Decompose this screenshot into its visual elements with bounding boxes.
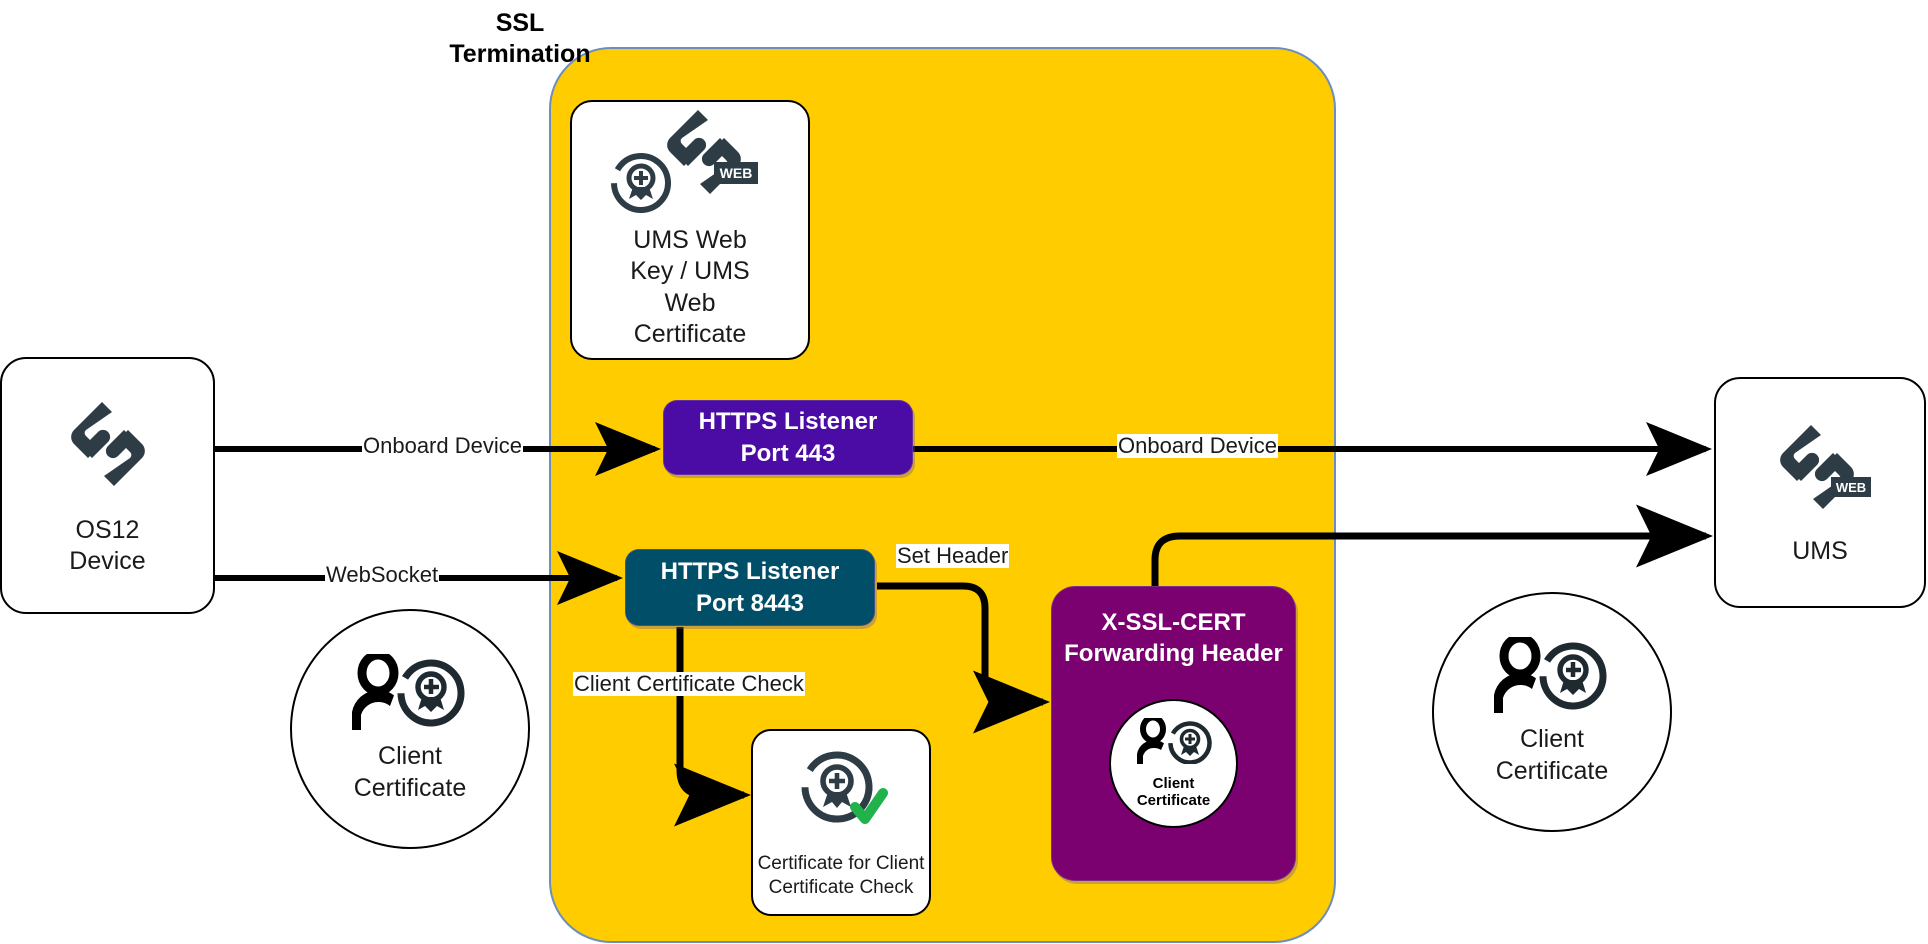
client-certificate-right-line1: Client bbox=[1496, 724, 1609, 756]
certificate-check-line2: Certificate Check bbox=[758, 876, 925, 900]
client-certificate-left-label: Client Certificate bbox=[354, 741, 467, 804]
edge-label-set-header: Set Header bbox=[896, 544, 1009, 568]
ums-web-certificate-line4: Certificate bbox=[630, 319, 749, 351]
xsslcert-line2: Forwarding Header bbox=[1064, 638, 1283, 669]
ums-web-certificate-label: UMS Web Key / UMS Web Certificate bbox=[630, 225, 749, 351]
person-certificate-icon bbox=[1131, 718, 1217, 772]
https-listener-443-line2: Port 443 bbox=[699, 438, 878, 469]
https-listener-8443-line1: HTTPS Listener bbox=[661, 556, 840, 587]
certificate-check-label: Certificate for Client Certificate Check bbox=[758, 852, 925, 900]
client-certificate-right-label: Client Certificate bbox=[1496, 724, 1609, 787]
ums-web-certificate-line1: UMS Web bbox=[630, 225, 749, 257]
certificate-badge-icon bbox=[610, 144, 679, 217]
https-listener-443-line1: HTTPS Listener bbox=[699, 406, 878, 437]
node-ums-web-certificate[interactable]: WEB UMS Web Key / UMS Web Certificate bbox=[570, 100, 810, 360]
edge-label-onboard-device-left: Onboard Device bbox=[362, 434, 523, 458]
edge-label-onboard-device-right: Onboard Device bbox=[1117, 434, 1278, 458]
diagram-canvas: SSL Termination Onboard Device Onboard D… bbox=[0, 0, 1928, 944]
ssl-title-line1: SSL bbox=[427, 8, 613, 39]
os12-device-label-line2: Device bbox=[69, 546, 145, 578]
node-os12-device[interactable]: OS12 Device bbox=[0, 357, 215, 614]
https-listener-8443-line2: Port 8443 bbox=[661, 588, 840, 619]
node-client-certificate-left[interactable]: Client Certificate bbox=[290, 609, 530, 849]
node-ums[interactable]: WEB UMS bbox=[1714, 377, 1926, 608]
os12-device-label: OS12 Device bbox=[69, 515, 145, 578]
client-certificate-left-line1: Client bbox=[354, 741, 467, 773]
node-https-listener-443[interactable]: HTTPS Listener Port 443 bbox=[663, 400, 913, 475]
node-xsslcert-forwarding-header[interactable]: X-SSL-CERT Forwarding Header bbox=[1051, 586, 1296, 881]
person-certificate-icon bbox=[1486, 637, 1618, 718]
client-certificate-left-line2: Certificate bbox=[354, 773, 467, 805]
ums-web-logo-icon: WEB bbox=[1765, 417, 1875, 522]
https-listener-443-label: HTTPS Listener Port 443 bbox=[699, 406, 878, 468]
client-certificate-right-line2: Certificate bbox=[1496, 756, 1609, 788]
svg-text:WEB: WEB bbox=[1836, 480, 1866, 495]
ums-web-logo-icon: WEB bbox=[610, 106, 770, 223]
svg-text:WEB: WEB bbox=[720, 165, 753, 181]
edge-label-websocket: WebSocket bbox=[325, 563, 439, 587]
certificate-check-line1: Certificate for Client bbox=[758, 852, 925, 876]
person-certificate-icon bbox=[344, 654, 476, 735]
certificate-check-icon bbox=[793, 745, 889, 842]
xsslcert-inner-line2: Certificate bbox=[1137, 792, 1210, 809]
ssl-title-line2: Termination bbox=[427, 39, 613, 70]
xsslcert-inner-label: Client Certificate bbox=[1137, 775, 1210, 810]
xsslcert-client-certificate-badge: Client Certificate bbox=[1109, 699, 1238, 828]
ssl-termination-title: SSL Termination bbox=[427, 8, 613, 71]
os12-device-label-line1: OS12 bbox=[69, 515, 145, 547]
node-certificate-for-client-certificate-check[interactable]: Certificate for Client Certificate Check bbox=[751, 729, 931, 916]
ums-web-certificate-line2: Key / UMS bbox=[630, 256, 749, 288]
xsslcert-line1: X-SSL-CERT bbox=[1064, 607, 1283, 638]
xsslcert-forwarding-header-label: X-SSL-CERT Forwarding Header bbox=[1064, 607, 1283, 669]
edge-label-client-certificate-check: Client Certificate Check bbox=[573, 672, 805, 696]
ums-label: UMS bbox=[1792, 536, 1848, 568]
ums-web-certificate-line3: Web bbox=[630, 288, 749, 320]
xsslcert-inner-line1: Client bbox=[1137, 775, 1210, 792]
node-https-listener-8443[interactable]: HTTPS Listener Port 8443 bbox=[625, 549, 875, 626]
https-listener-8443-label: HTTPS Listener Port 8443 bbox=[661, 556, 840, 618]
node-client-certificate-right[interactable]: Client Certificate bbox=[1432, 592, 1672, 832]
ums-logo-icon bbox=[54, 394, 162, 499]
